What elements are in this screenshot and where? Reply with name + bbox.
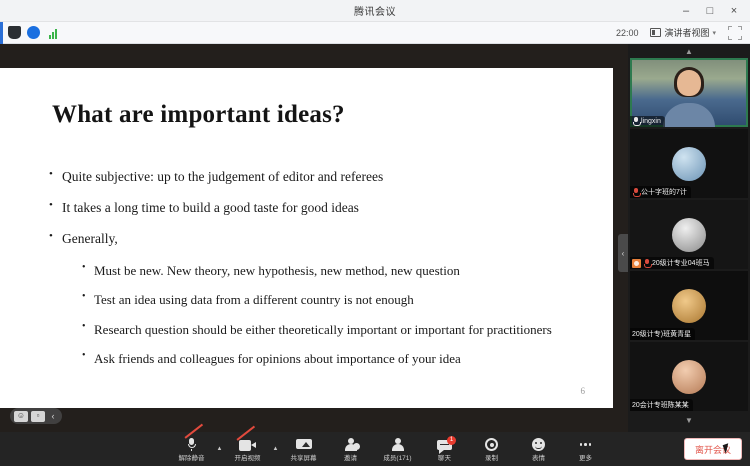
emoji-button[interactable]: 表情 <box>515 432 562 466</box>
invite-person-icon <box>344 436 358 451</box>
signal-bars-icon[interactable] <box>46 26 59 39</box>
chat-icon[interactable]: ▫ <box>31 411 45 422</box>
view-mode-selector[interactable]: 演讲者视图 ▾ <box>646 25 720 40</box>
record-icon <box>485 436 498 451</box>
more-button-label: 更多 <box>579 452 592 462</box>
participant-name: 20会计专班陈某某 <box>632 400 689 410</box>
mute-button[interactable]: 解除静音 <box>168 432 215 466</box>
members-button-label: 成员(171) <box>383 452 411 462</box>
microphone-muted-icon <box>643 259 650 268</box>
slide-page-number: 6 <box>581 386 586 396</box>
window-controls: – □ × <box>674 0 746 22</box>
view-mode-label: 演讲者视图 <box>664 26 709 39</box>
title-bar: 腾讯会议 – □ × <box>0 0 750 22</box>
leave-meeting-button[interactable]: 离开会议 <box>684 438 742 460</box>
microphone-icon <box>632 117 639 126</box>
speaker-view-icon <box>650 28 661 37</box>
host-badge-icon <box>632 259 641 268</box>
record-button-label: 录制 <box>485 452 498 462</box>
minimize-button[interactable]: – <box>674 0 698 22</box>
participant-name-badge: 20会计专班陈某某 <box>630 399 693 411</box>
shared-screen-stage[interactable]: What are important ideas? Quite subjecti… <box>0 44 628 432</box>
participant-name-badge: 公十字班的7计 <box>630 186 691 198</box>
leave-meeting-label: 离开会议 <box>695 443 731 456</box>
mic-options-chevron-icon[interactable]: ▲ <box>215 432 224 466</box>
participant-name-badge: lingxin <box>630 116 665 127</box>
video-button-label: 开启视频 <box>235 452 261 462</box>
slide-sub-bullet: Research question should be either theor… <box>81 321 593 339</box>
presentation-slide: What are important ideas? Quite subjecti… <box>0 68 613 408</box>
emoji-button-label: 表情 <box>532 452 545 462</box>
meeting-timer: 22:00 <box>616 28 639 38</box>
invite-button[interactable]: 邀请 <box>327 432 374 466</box>
window-title: 腾讯会议 <box>354 3 396 18</box>
invite-button-label: 邀请 <box>344 452 357 462</box>
record-button[interactable]: 录制 <box>468 432 515 466</box>
slide-bullet-list: Quite subjective: up to the judgement of… <box>48 169 593 380</box>
slide-sub-bullet-list: Must be new. New theory, new hypothesis,… <box>81 262 593 368</box>
slide-sub-bullet: Ask friends and colleagues for opinions … <box>81 350 593 368</box>
chat-button[interactable]: 1 聊天 <box>421 432 468 466</box>
meeting-toolbar: 22:00 演讲者视图 ▾ <box>0 22 750 44</box>
participant-name-badge: 20级计专业04班马 <box>630 257 714 269</box>
participant-name: lingxin <box>641 118 661 125</box>
participant-tile[interactable]: 20级计专)班黄青星 <box>630 271 748 340</box>
filmstrip-scroll-up-icon[interactable]: ▲ <box>628 44 750 58</box>
chevron-down-icon: ▾ <box>712 29 716 37</box>
participant-name-badge: 20级计专)班黄青星 <box>630 328 695 340</box>
participant-name: 公十字班的7计 <box>641 187 687 197</box>
toolbar-right-group: 22:00 演讲者视图 ▾ <box>616 25 750 40</box>
collapse-icon[interactable]: ‹ <box>48 411 58 422</box>
fullscreen-icon[interactable] <box>728 26 742 40</box>
filmstrip-collapse-handle[interactable]: ‹ <box>618 234 628 272</box>
participant-name: 20级计专业04班马 <box>652 258 710 268</box>
mute-button-label: 解除静音 <box>179 452 205 462</box>
share-screen-icon <box>296 436 312 451</box>
microphone-muted-icon <box>187 436 196 451</box>
slide-bullet: Quite subjective: up to the judgement of… <box>48 169 593 186</box>
slide-bullet: Generally, <box>48 231 593 248</box>
share-screen-label: 共享屏幕 <box>291 452 317 462</box>
participants-icon <box>391 436 405 451</box>
slide-bullet: It takes a long time to build a good tas… <box>48 200 593 217</box>
slide-sub-bullet: Must be new. New theory, new hypothesis,… <box>81 262 593 280</box>
slide-sub-bullet: Test an idea using data from a different… <box>81 291 593 309</box>
meeting-control-bar: 解除静音 ▲ 开启视频 ▲ 共享屏幕 邀请 <box>0 432 750 466</box>
participant-tile[interactable]: lingxin <box>630 58 748 127</box>
video-button[interactable]: 开启视频 <box>224 432 271 466</box>
toolbar-left-icons <box>0 26 59 39</box>
control-buttons: 解除静音 ▲ 开启视频 ▲ 共享屏幕 邀请 <box>168 432 609 466</box>
members-button[interactable]: 成员(171) <box>374 432 421 466</box>
more-dots-icon <box>580 436 592 451</box>
participant-tile[interactable]: 20级计专业04班马 <box>630 200 748 269</box>
participant-tile[interactable]: 20会计专班陈某某 <box>630 342 748 411</box>
participant-tile[interactable]: 公十字班的7计 <box>630 129 748 198</box>
more-button[interactable]: 更多 <box>562 432 609 466</box>
emoji-icon[interactable]: ☺ <box>14 411 28 422</box>
tencent-meeting-window: 腾讯会议 – □ × 22:00 演讲者视图 ▾ Wha <box>0 0 750 466</box>
shield-icon[interactable] <box>8 26 21 39</box>
share-screen-button[interactable]: 共享屏幕 <box>280 432 327 466</box>
emoji-icon <box>532 436 545 451</box>
camera-options-chevron-icon[interactable]: ▲ <box>271 432 280 466</box>
chat-unread-badge: 1 <box>447 436 456 445</box>
camera-off-icon <box>239 436 256 451</box>
participant-name: 20级计专)班黄青星 <box>632 329 691 339</box>
slide-title: What are important ideas? <box>52 101 345 129</box>
chat-bubble-icon: 1 <box>437 436 452 451</box>
maximize-button[interactable]: □ <box>698 0 722 22</box>
floating-mini-toolbar[interactable]: ☺ ▫ ‹ <box>10 408 62 424</box>
filmstrip-scroll-down-icon[interactable]: ▼ <box>628 413 750 427</box>
participant-filmstrip[interactable]: ▲ lingxin 公十字班的7计 20级计专业04班马 <box>628 44 750 432</box>
close-button[interactable]: × <box>722 0 746 22</box>
microphone-muted-icon <box>632 188 639 197</box>
network-icon[interactable] <box>27 26 40 39</box>
